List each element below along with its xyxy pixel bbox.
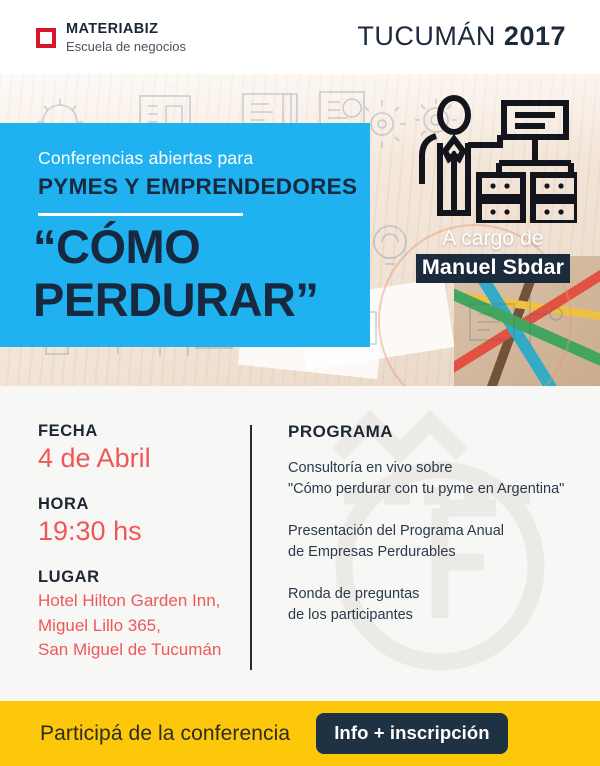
footer-text: Participá de la conferencia — [40, 722, 290, 746]
program-item-line-1: Consultoría en vivo sobre — [288, 458, 578, 479]
program-item: Consultoría en vivo sobre "Cómo perdurar… — [288, 458, 578, 501]
headline-banner: Conferencias abiertas para PYMES Y EMPRE… — [0, 123, 370, 347]
date-value: 4 de Abril — [38, 443, 238, 473]
program-item-line-1: Ronda de preguntas — [288, 584, 578, 605]
place-label: LUGAR — [38, 568, 238, 587]
brand-logo: MATERIABIZ Escuela de negocios — [36, 22, 186, 53]
event-flyer: MATERIABIZ Escuela de negocios TUCUMÁN 2… — [0, 0, 600, 766]
hero-kicker: Conferencias abiertas para — [38, 148, 253, 169]
headline-line-2: PERDURAR” — [33, 274, 318, 327]
column-divider — [250, 425, 252, 670]
red-square-outline-icon — [36, 28, 56, 48]
hero-subhead: PYMES Y EMPRENDEDORES — [38, 174, 357, 200]
event-details-column: FECHA 4 de Abril HORA 19:30 hs LUGAR Hot… — [38, 422, 238, 662]
program-item-line-1: Presentación del Programa Anual — [288, 521, 578, 542]
footer-bar: Participá de la conferencia Info + inscr… — [0, 701, 600, 766]
event-year: 2017 — [504, 21, 566, 51]
businessman-org-chart-icon — [409, 95, 577, 223]
brand-tagline: Escuela de negocios — [66, 40, 186, 53]
time-value: 19:30 hs — [38, 516, 238, 546]
time-label: HORA — [38, 495, 238, 514]
program-item: Ronda de preguntas de los participantes — [288, 584, 578, 627]
brand-name: MATERIABIZ — [66, 22, 186, 37]
event-city: TUCUMÁN — [357, 21, 496, 51]
program-item: Presentación del Programa Anual de Empre… — [288, 521, 578, 564]
brand-text: MATERIABIZ Escuela de negocios — [66, 22, 186, 53]
headline-divider — [38, 213, 243, 216]
info-registration-button[interactable]: Info + inscripción — [316, 713, 507, 754]
program-title: PROGRAMA — [288, 422, 578, 442]
header-bar: MATERIABIZ Escuela de negocios TUCUMÁN 2… — [0, 0, 600, 74]
place-line-3: San Miguel de Tucumán — [38, 638, 238, 662]
program-item-line-2: de Empresas Perdurables — [288, 542, 578, 563]
place-line-2: Miguel Lillo 365, — [38, 614, 238, 638]
place-value: Hotel Hilton Garden Inn, Miguel Lillo 36… — [38, 589, 238, 661]
hero-headline: “CÓMO PERDURAR” — [33, 221, 318, 326]
speaker-name: Manuel Sbdar — [416, 254, 570, 283]
program-item-line-2: "Cómo perdurar con tu pyme en Argentina" — [288, 479, 578, 500]
event-city-year: TUCUMÁN 2017 — [357, 21, 566, 52]
speaker-role: A cargo de — [398, 227, 588, 251]
date-label: FECHA — [38, 422, 238, 441]
program-item-line-2: de los participantes — [288, 605, 578, 626]
program-column: PROGRAMA Consultoría en vivo sobre "Cómo… — [288, 422, 578, 647]
details-section: FECHA 4 de Abril HORA 19:30 hs LUGAR Hot… — [0, 386, 600, 701]
headline-line-1: “CÓMO — [33, 220, 200, 273]
speaker-block: A cargo de Manuel Sbdar — [398, 95, 588, 283]
place-line-1: Hotel Hilton Garden Inn, — [38, 589, 238, 613]
